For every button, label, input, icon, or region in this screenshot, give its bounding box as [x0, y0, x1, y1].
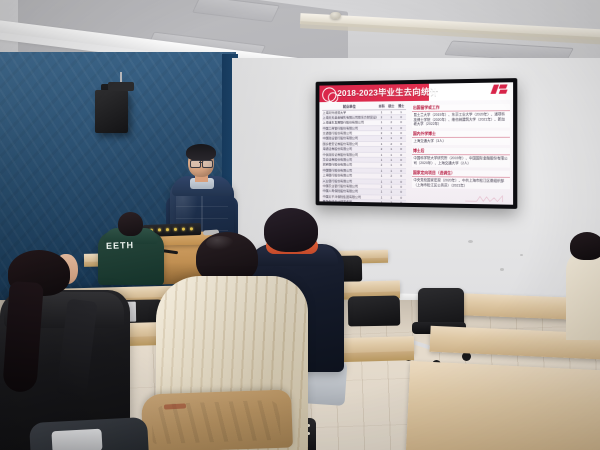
cell-count: 1	[377, 158, 387, 162]
slide-title: 2018-2023毕业生去向统计	[337, 86, 438, 100]
slide-section: 国内外学博士上海交通大学（3人）	[412, 131, 510, 145]
slide-sections: 出国留学或工作昆士兰大学（2019年）、东京工业大学（2020年）、浦项科技博士…	[412, 104, 510, 193]
cell-employer: 交通银行股份有限公司	[322, 131, 376, 135]
presentation-slide: 2018-2023毕业生去向统计 就业单位 本科 硕士 博士 上海对外经贸大学1…	[319, 82, 513, 204]
table-row: 普华永道会计师事务所120	[322, 200, 406, 205]
cell-count: 1	[377, 142, 387, 146]
cell-count: 1	[377, 137, 387, 141]
cell-employer: 兴业银行股份有限公司	[322, 179, 376, 184]
cell-count: 1	[386, 158, 396, 162]
cell-employer: 华泰证券股份有限公司	[322, 158, 376, 163]
cell-employer: 招商银行股份有限公司	[322, 163, 376, 168]
cell-count: 0	[396, 136, 406, 140]
column-header-doctor: 博士	[396, 103, 406, 108]
section-body: 上海交通大学（3人）	[412, 138, 510, 145]
student-head	[570, 232, 600, 260]
student-head	[118, 212, 143, 236]
cell-count: 1	[386, 147, 396, 151]
pendant-fixture	[108, 82, 134, 91]
cell-count: 0	[396, 163, 406, 167]
cell-count: 0	[396, 201, 406, 205]
cell-count: 2	[377, 115, 387, 119]
cell-employer: 普华永道会计师事务所	[322, 200, 376, 205]
section-body: 中央党校国家宏观（2020年）、中共上海市松江区委组织部（上海市松江区公务员）（…	[412, 177, 510, 189]
cell-count: 0	[396, 190, 406, 195]
wall-display[interactable]: 2018-2023毕业生去向统计 就业单位 本科 硕士 博士 上海对外经贸大学1…	[316, 78, 518, 209]
section-body: 昆士兰大学（2019年）、东京工业大学（2020年）、浦项科技博士学院（2020…	[412, 111, 510, 128]
wall-scuff	[500, 268, 504, 271]
cell-count: 0	[396, 131, 406, 135]
eyeglasses-icon	[202, 160, 213, 168]
cell-employer: 上海天天基金销售有限公司暨东方财富证券	[322, 115, 376, 120]
smoke-detector-icon	[330, 12, 341, 19]
cell-count: 1	[377, 179, 387, 183]
cell-count: 2	[386, 201, 396, 205]
cell-employer: 中信建投证券股份有限公司	[322, 152, 376, 157]
column-header-employer: 就业单位	[322, 103, 376, 109]
cell-employer: 上海浦东发展银行股份有限公司	[322, 121, 376, 126]
wall-speaker-icon	[95, 90, 128, 133]
presenter-hair	[186, 144, 216, 161]
student-head	[264, 208, 318, 252]
slide-section: 国家定向项目（选调生）中央党校国家宏观（2020年）、中共上海市松江区委组织部（…	[412, 170, 510, 189]
section-body: 中国科学院大学研究所（2019年）、中国国际金融股份有限公司（2020年）、上海…	[412, 155, 510, 167]
foreground-table	[406, 361, 600, 450]
display-screen: 2018-2023毕业生去向统计 就业单位 本科 硕士 博士 上海对外经贸大学1…	[319, 82, 513, 204]
backpack-panel	[51, 429, 102, 450]
slide-section: 出国留学或工作昆士兰大学（2019年）、东京工业大学（2020年）、浦项科技博士…	[412, 104, 510, 128]
cell-count: 1	[386, 179, 396, 183]
cell-count: 0	[396, 185, 406, 190]
cell-count: 0	[396, 147, 406, 151]
cell-employer: 中国银行股份有限公司	[322, 168, 376, 173]
classroom-photo: 2018-2023毕业生去向统计 就业单位 本科 硕士 博士 上海对外经贸大学1…	[0, 0, 600, 450]
cell-count: 0	[396, 174, 406, 178]
wall-scuff	[468, 240, 473, 243]
cell-employer: 中国建设银行股份有限公司	[322, 137, 376, 141]
cell-count: 2	[386, 174, 396, 178]
cell-count: 1	[377, 110, 387, 114]
cell-count: 1	[386, 131, 396, 135]
cell-count: 1	[377, 201, 387, 205]
cell-count: 1	[386, 136, 396, 140]
cell-count: 1	[386, 195, 396, 200]
cell-count: 0	[396, 195, 406, 200]
cell-count: 1	[386, 190, 396, 195]
cell-count: 1	[377, 190, 387, 195]
student-partial-right	[566, 250, 600, 340]
table-body: 上海对外经贸大学111上海天天基金销售有限公司暨东方财富证券210上海浦东发展银…	[322, 110, 406, 205]
hoodie-text: EETH	[106, 239, 162, 253]
cell-count: 1	[377, 169, 387, 173]
cell-count: 2	[377, 163, 387, 167]
cell-count: 2	[386, 142, 396, 146]
cell-count: 2	[386, 120, 396, 124]
cell-count: 0	[396, 169, 406, 173]
cell-employer: 中国工商银行股份有限公司	[322, 126, 376, 131]
cell-count: 2	[377, 185, 387, 189]
cell-count: 1	[386, 153, 396, 157]
cell-count: 0	[396, 115, 406, 119]
slide-watermark-graphic	[464, 193, 510, 204]
cell-employer: 上海对外经贸大学	[322, 110, 376, 115]
column-header-bachelor: 本科	[377, 103, 387, 108]
cell-count: 1	[386, 115, 396, 119]
cell-count: 1	[377, 120, 387, 124]
cell-count: 0	[396, 158, 406, 162]
chair[interactable]	[348, 296, 401, 327]
cell-count: 1	[377, 174, 387, 178]
slide-corner-mark-icon	[492, 83, 509, 96]
cell-count: 1	[377, 195, 387, 200]
wall-scuff	[520, 254, 523, 256]
cell-count: 1	[386, 163, 396, 167]
cell-count: 1	[377, 153, 387, 157]
cell-employer: 海通证券股份有限公司	[322, 147, 376, 151]
cell-count: 1	[386, 110, 396, 114]
cell-count: 2	[377, 147, 387, 151]
cell-employer: 中国农业银行股份有限公司	[322, 184, 376, 189]
cell-count: 1	[386, 185, 396, 190]
cell-count: 1	[386, 169, 396, 173]
cell-count: 0	[396, 179, 406, 184]
cell-employer: 中国人寿保险股份有限公司	[322, 189, 376, 194]
eyeglasses-bridge	[199, 162, 202, 163]
column-header-master: 硕士	[386, 103, 396, 108]
cell-count: 2	[377, 131, 387, 135]
employers-table: 就业单位 本科 硕士 博士 上海对外经贸大学111上海天天基金销售有限公司暨东方…	[322, 103, 406, 200]
slide-section: 博士后中国科学院大学研究所（2019年）、中国国际金融股份有限公司（2020年）…	[412, 148, 510, 167]
cell-count: 0	[396, 120, 406, 124]
cell-employer: 上海银行股份有限公司	[322, 173, 376, 178]
cell-count: 0	[396, 153, 406, 157]
cell-count: 1	[396, 110, 406, 114]
cell-employer: 国泰君安证券股份有限公司	[322, 142, 376, 146]
cell-count: 1	[377, 126, 387, 130]
university-seal-icon	[322, 87, 336, 102]
hair-highlight	[206, 236, 234, 250]
cell-count: 1	[386, 126, 396, 130]
cell-count: 0	[396, 126, 406, 130]
cell-count: 0	[396, 142, 406, 146]
